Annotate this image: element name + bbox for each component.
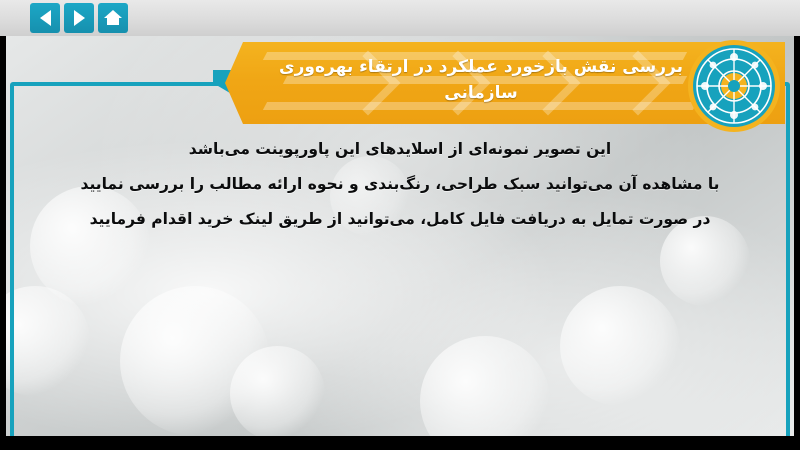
slide-title: بررسی نقش بازخورد عملکرد در ارتقاء بهره‌…: [255, 54, 707, 107]
toolbar: [0, 0, 800, 36]
next-triangle-icon: [74, 10, 85, 26]
bokeh-circle: [0, 286, 90, 396]
page-bottom-bar: [0, 436, 800, 450]
bokeh-circle: [230, 346, 325, 441]
decorative-medallion: [686, 38, 782, 134]
slide-body-line-3: در صورت تمایل به دریافت فایل کامل، می‌تو…: [40, 202, 760, 237]
slide-body-line-2: با مشاهده آن می‌توانید سبک طراحی، رنگ‌بن…: [40, 167, 760, 202]
slide-canvas: بررسی نقش بازخورد عملکرد در ارتقاء بهره‌…: [0, 36, 800, 450]
page-edge-left: [0, 36, 6, 436]
home-button[interactable]: [98, 3, 128, 33]
slide-title-line-2: سازمانی: [255, 80, 707, 106]
previous-slide-button[interactable]: [30, 3, 60, 33]
bokeh-circle: [560, 286, 680, 406]
home-icon: [104, 10, 122, 26]
slide-body-text: این تصویر نمونه‌ای از اسلایدهای این پاور…: [40, 132, 760, 237]
next-slide-button[interactable]: [64, 3, 94, 33]
slide-title-line-1: بررسی نقش بازخورد عملکرد در ارتقاء بهره‌…: [255, 54, 707, 80]
slide-viewer: بررسی نقش بازخورد عملکرد در ارتقاء بهره‌…: [0, 0, 800, 450]
previous-triangle-icon: [40, 10, 51, 26]
bokeh-circle: [120, 286, 270, 436]
slide-body-line-1: این تصویر نمونه‌ای از اسلایدهای این پاور…: [40, 132, 760, 167]
page-edge-right: [794, 36, 800, 436]
bokeh-circle: [420, 336, 550, 450]
